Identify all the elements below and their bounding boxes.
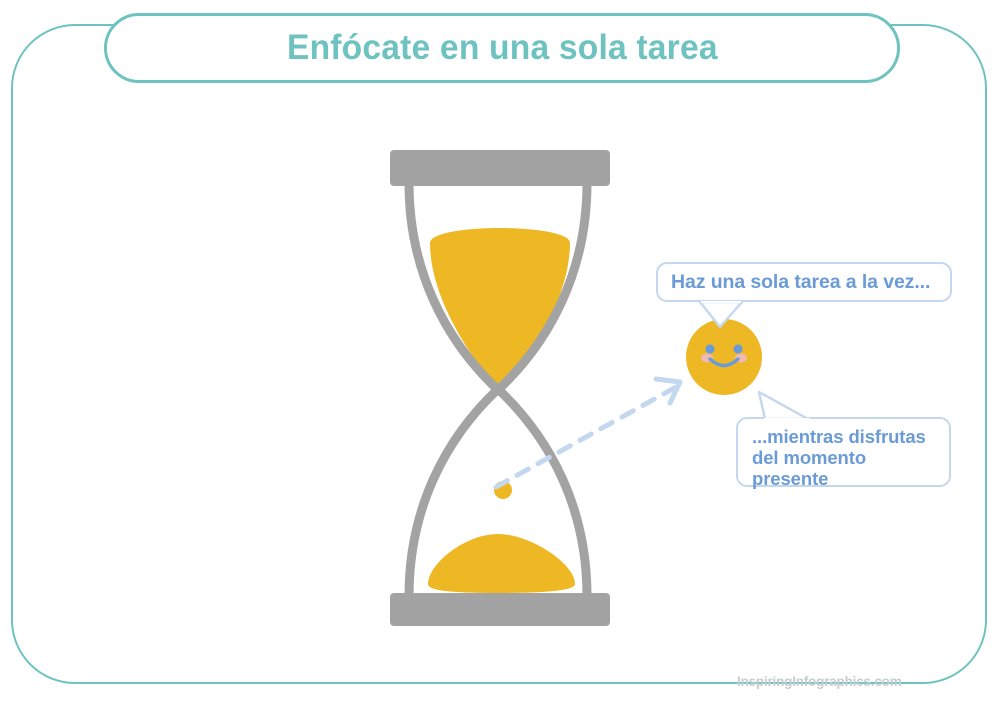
title-pill: Enfócate en una sola tarea bbox=[104, 13, 900, 83]
speech-bubble-top-tail bbox=[698, 301, 744, 329]
sand-pile-in-bottom-bulb bbox=[428, 534, 575, 593]
eye-left-icon bbox=[705, 344, 714, 353]
annotation-arrow bbox=[480, 355, 720, 515]
watermark: InspiringInfographics.com bbox=[737, 674, 902, 689]
eye-right-icon bbox=[733, 344, 742, 353]
speech-bubble-bottom-line2: del momento bbox=[752, 447, 949, 468]
speech-bubble-bottom-line1: ...mientras disfrutas bbox=[752, 426, 949, 447]
top-cap-bar bbox=[390, 150, 610, 186]
smiley-face bbox=[685, 318, 763, 396]
smiley-head bbox=[686, 319, 762, 395]
page-title: Enfócate en una sola tarea bbox=[287, 28, 718, 68]
speech-bubble-bottom-line3: presente bbox=[752, 468, 949, 489]
speech-bubble-top-text: Haz una sola tarea a la vez... bbox=[671, 271, 930, 294]
speech-bubble-top: Haz una sola tarea a la vez... bbox=[656, 262, 952, 302]
speech-bubble-bottom-tail bbox=[755, 390, 810, 421]
dashed-arrow-line bbox=[496, 387, 676, 487]
infographic-canvas: Enfócate en una sola tarea bbox=[0, 0, 1000, 707]
bottom-cap-bar bbox=[390, 593, 610, 626]
speech-bubble-bottom: ...mientras disfrutas del momento presen… bbox=[736, 417, 951, 487]
